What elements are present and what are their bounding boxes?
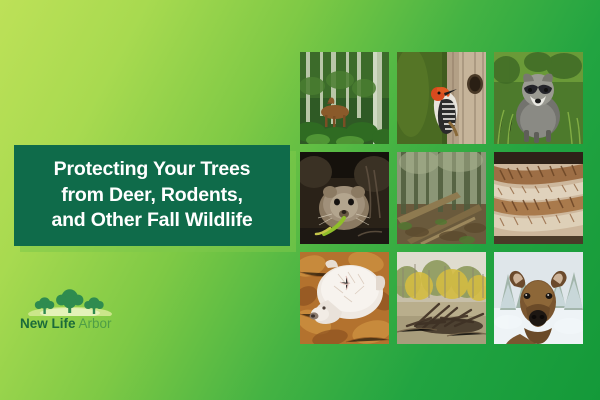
photo-bark-gnaw-damage (494, 152, 583, 244)
photo-deer-in-forest (300, 52, 389, 144)
logo-secondary-word: Arbor (79, 316, 112, 331)
logo-primary-word: New Life (20, 316, 76, 331)
title-card: Protecting Your Trees from Deer, Rodents… (14, 145, 290, 246)
photo-raccoon-in-grass (494, 52, 583, 144)
photo-woodpecker-on-trunk (397, 52, 486, 144)
brand-logo[interactable]: New Life Arbor (20, 288, 140, 334)
logo-wordmark: New Life Arbor (20, 317, 140, 331)
photo-autumn-brush-pile (397, 252, 486, 344)
page-title: Protecting Your Trees from Deer, Rodents… (43, 157, 260, 234)
three-trees-logo-icon (24, 288, 116, 316)
photo-forest-fallen-logs (397, 152, 486, 244)
photo-grid (300, 52, 583, 345)
photo-deer-in-snow (494, 252, 583, 344)
photo-hedgehog-in-leaves (300, 252, 389, 344)
photo-vole-eating-stem (300, 152, 389, 244)
wildlife-article-banner: Protecting Your Trees from Deer, Rodents… (0, 0, 600, 400)
